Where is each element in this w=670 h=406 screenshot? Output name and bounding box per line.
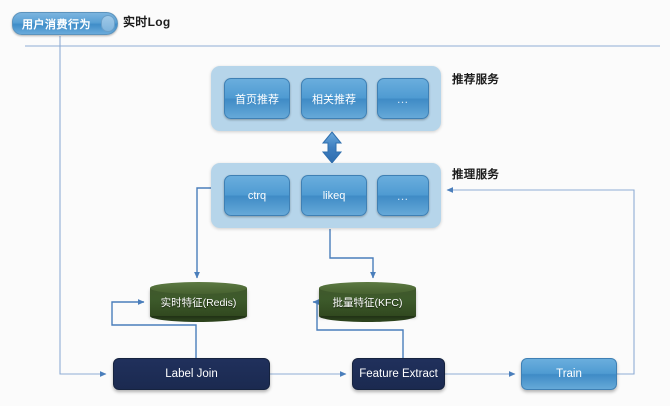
chip-recommend-more-label: … (397, 92, 410, 106)
user-behavior-tab[interactable]: 用户消费行为 (12, 12, 118, 35)
chip-ctrq-label: ctrq (248, 190, 266, 202)
chip-inference-more-label: … (397, 189, 410, 203)
chip-recommend-more[interactable]: … (377, 78, 429, 119)
batch-feature-store: 批量特征(KFC) (319, 282, 416, 322)
realtime-feature-store-label: 实时特征(Redis) (150, 282, 247, 322)
tab-cap-icon (101, 15, 115, 32)
feature-extract-label: Feature Extract (359, 368, 438, 380)
recommend-service-tag: 推荐服务 (452, 71, 499, 87)
wire-inference-to-kfc (330, 229, 373, 278)
train-node[interactable]: Train (521, 358, 617, 390)
inference-service-panel: ctrq likeq … (211, 163, 441, 228)
chip-ctrq[interactable]: ctrq (224, 175, 290, 216)
chip-home-recommend-label: 首页推荐 (235, 91, 279, 107)
wire-train-to-inference (447, 190, 634, 374)
label-join-label: Label Join (165, 368, 217, 380)
label-join-node[interactable]: Label Join (113, 358, 270, 390)
diagram-canvas: 用户消费行为 实时Log 首页推荐 相关推荐 … 推荐服务 ctrq likeq… (0, 0, 670, 406)
wire-tab-to-labeljoin (60, 36, 106, 374)
chip-home-recommend[interactable]: 首页推荐 (224, 78, 290, 119)
chip-likeq[interactable]: likeq (301, 175, 367, 216)
user-behavior-tab-label: 用户消费行为 (22, 16, 91, 32)
chip-likeq-label: likeq (323, 190, 346, 202)
realtime-log-label: 实时Log (123, 13, 171, 30)
chip-inference-more[interactable]: … (377, 175, 429, 216)
recommend-service-panel: 首页推荐 相关推荐 … (211, 66, 441, 131)
chip-related-recommend-label: 相关推荐 (312, 91, 356, 107)
feature-extract-node[interactable]: Feature Extract (352, 358, 445, 390)
chip-related-recommend[interactable]: 相关推荐 (301, 78, 367, 119)
realtime-feature-store: 实时特征(Redis) (150, 282, 247, 322)
batch-feature-store-label: 批量特征(KFC) (319, 282, 416, 322)
inference-service-tag: 推理服务 (452, 166, 499, 182)
bidirectional-arrow-icon (316, 131, 348, 164)
train-label: Train (556, 368, 582, 380)
